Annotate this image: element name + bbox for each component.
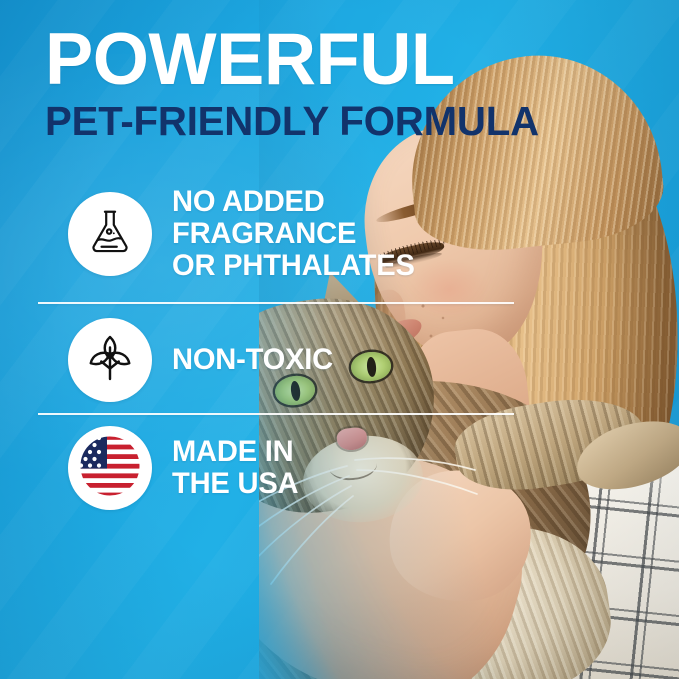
plant-leaf-icon-badge	[68, 318, 152, 402]
feature-item-made-in-usa: MADE IN THE USA	[68, 426, 302, 510]
feature-divider-2	[38, 413, 514, 415]
feature-item-no-added-fragrance: NO ADDED FRAGRANCE OR PHTHALATES	[68, 186, 422, 282]
feature-label: NO ADDED FRAGRANCE OR PHTHALATES	[172, 186, 415, 282]
page-subtitle: PET-FRIENDLY FORMULA	[45, 101, 539, 142]
feature-item-non-toxic: NON-TOXIC	[68, 318, 338, 402]
plant-leaf-icon	[82, 330, 138, 391]
product-feature-banner: POWERFUL PET-FRIENDLY FORMULA	[0, 0, 679, 679]
page-title: POWERFUL	[45, 26, 544, 93]
usa-flag-icon	[74, 430, 146, 507]
flask-icon	[83, 205, 137, 264]
headline-block: POWERFUL PET-FRIENDLY FORMULA	[45, 26, 549, 142]
feature-label: MADE IN THE USA	[172, 436, 298, 500]
usa-flag-icon-badge	[68, 426, 152, 510]
feature-label: NON-TOXIC	[172, 344, 333, 376]
feature-divider-1	[38, 302, 514, 304]
flask-icon-badge	[68, 192, 152, 276]
